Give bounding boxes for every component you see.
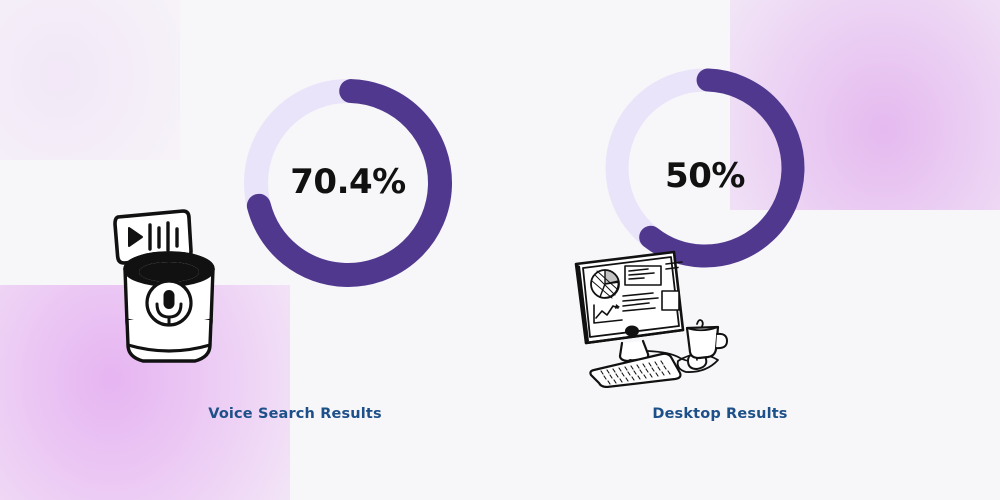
donut-value-desktop: 50% (600, 156, 810, 196)
donut-value-voice-search: 70.4% (238, 162, 458, 202)
panel-caption-desktop: Desktop Results (520, 406, 920, 422)
stat-panel-voice-search: 70.4% (95, 0, 495, 500)
smart-speaker-icon (105, 205, 235, 385)
panel-caption-voice-search: Voice Search Results (95, 406, 495, 422)
infographic-canvas: 70.4% (0, 0, 1000, 500)
stat-panel-desktop: 50% (520, 0, 920, 500)
smart-speaker-illustration (105, 205, 235, 380)
